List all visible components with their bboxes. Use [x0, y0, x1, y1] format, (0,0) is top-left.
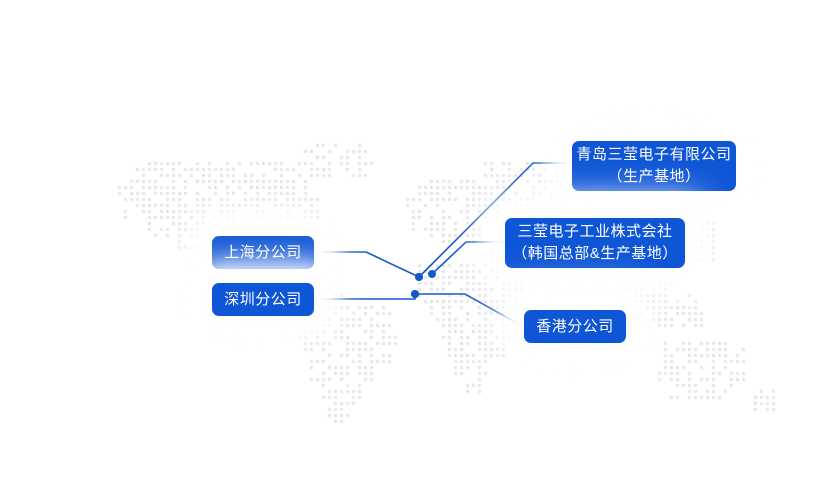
map-marker-shanghai[interactable]	[415, 273, 423, 281]
map-marker-hongkong-dot	[411, 290, 419, 298]
map-marker-korea-dot	[428, 270, 436, 278]
label-korea-hq-line-1: 三莹电子工业株式会社	[517, 221, 672, 243]
label-qingdao[interactable]: 青岛三莹电子有限公司（生产基地）	[572, 141, 736, 191]
label-korea-hq[interactable]: 三莹电子工业株式会社（韩国总部&生产基地）	[505, 218, 685, 268]
connector-korea	[432, 242, 505, 274]
connector-shanghai	[314, 252, 419, 277]
label-hongkong[interactable]: 香港分公司	[524, 310, 626, 343]
label-shenzhen-line-1: 深圳分公司	[224, 289, 302, 311]
label-shanghai[interactable]: 上海分公司	[212, 236, 314, 269]
map-infographic: 青岛三莹电子有限公司（生产基地）三莹电子工业株式会社（韩国总部&生产基地）上海分…	[0, 0, 824, 480]
map-marker-korea[interactable]	[428, 270, 436, 278]
map-marker-shanghai-dot	[415, 273, 423, 281]
connector-hongkong	[415, 294, 524, 327]
label-qingdao-line-1: 青岛三莹电子有限公司	[576, 144, 731, 166]
connector-layer	[0, 0, 824, 480]
label-shenzhen[interactable]: 深圳分公司	[212, 283, 314, 316]
label-korea-hq-line-2: （韩国总部&生产基地）	[512, 243, 678, 265]
connector-shenzhen	[314, 294, 415, 299]
label-hongkong-line-1: 香港分公司	[536, 316, 614, 338]
map-marker-hongkong[interactable]	[411, 290, 419, 298]
label-qingdao-line-2: （生产基地）	[607, 166, 700, 188]
label-shanghai-line-1: 上海分公司	[224, 242, 302, 264]
